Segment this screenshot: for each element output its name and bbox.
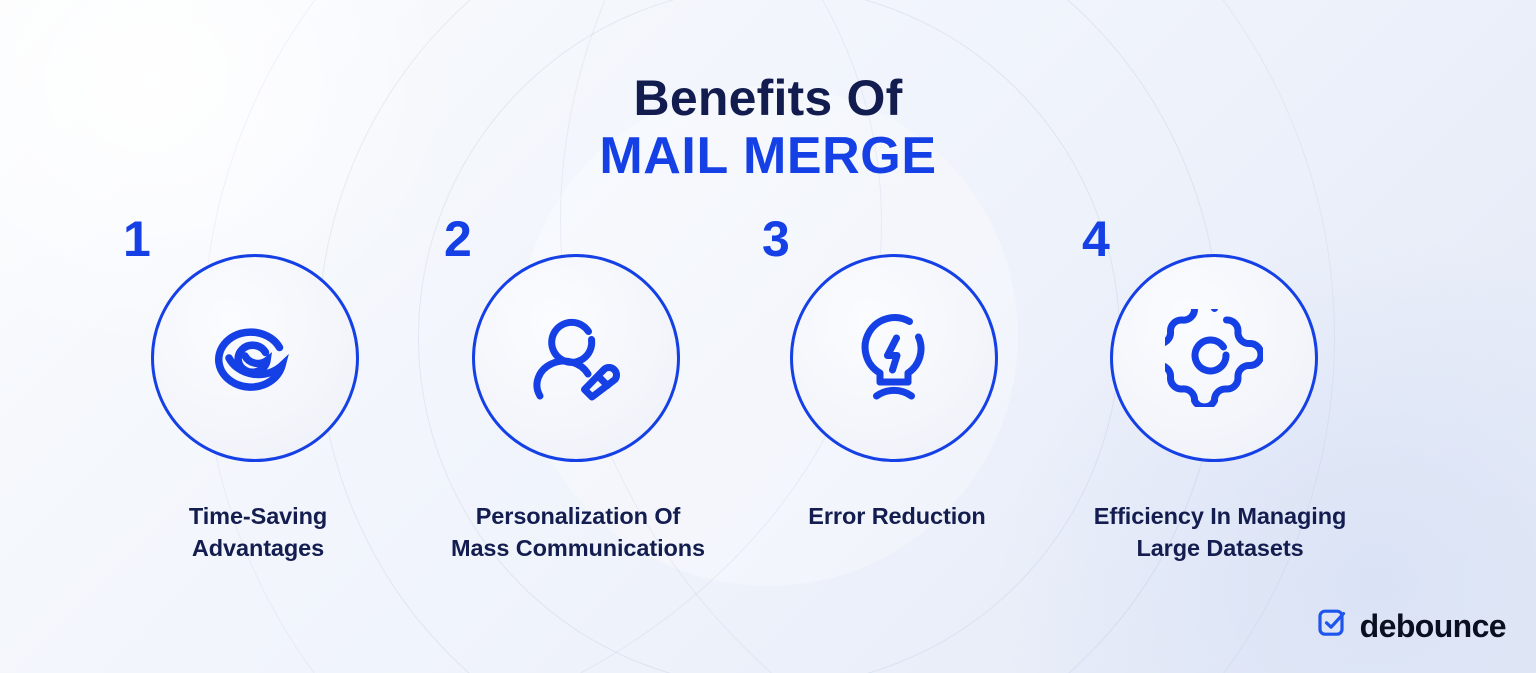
benefit-number: 4 [1082, 214, 1110, 264]
title-line-primary: Benefits Of [0, 72, 1536, 125]
benefit-number: 2 [444, 214, 472, 264]
benefit-circle-wrap: 3 [790, 236, 1004, 450]
lightbulb-bolt-icon [846, 308, 942, 408]
benefit-icon-circle [472, 254, 680, 462]
benefit-circle-wrap: 4 [1110, 236, 1324, 450]
infographic-canvas: Benefits Of MAIL MERGE 1 Time-Saving Adv… [0, 0, 1536, 673]
gear-icon [1165, 309, 1263, 407]
title-line-accent: MAIL MERGE [0, 125, 1536, 187]
benefit-circle-wrap: 1 [151, 236, 365, 450]
benefit-item-personalization: 2 Personalization Of Mass Communications [418, 236, 738, 565]
user-edit-icon [526, 308, 626, 408]
benefit-item-efficiency: 4 Efficiency In Managing Large Datasets [1042, 236, 1398, 565]
brand-name: debounce [1360, 608, 1506, 645]
page-title: Benefits Of MAIL MERGE [0, 72, 1536, 187]
benefit-icon-circle [151, 254, 359, 462]
benefit-number: 1 [123, 214, 151, 264]
debounce-check-logo-icon [1316, 607, 1349, 645]
benefit-circle-wrap: 2 [472, 236, 686, 450]
benefit-label: Personalization Of Mass Communications [418, 500, 738, 565]
benefit-icon-circle [1110, 254, 1318, 462]
brand-logo: debounce [1316, 607, 1506, 645]
benefit-number: 3 [762, 214, 790, 264]
benefit-label: Error Reduction [762, 500, 1032, 532]
benefit-label: Time-Saving Advantages [118, 500, 398, 565]
benefit-item-time-saving: 1 Time-Saving Advantages [118, 236, 398, 565]
benefit-item-error-reduction: 3 Error Reduction [762, 236, 1032, 532]
benefit-icon-circle [790, 254, 998, 462]
benefit-label: Efficiency In Managing Large Datasets [1042, 500, 1398, 565]
spiral-clock-icon [207, 310, 303, 406]
